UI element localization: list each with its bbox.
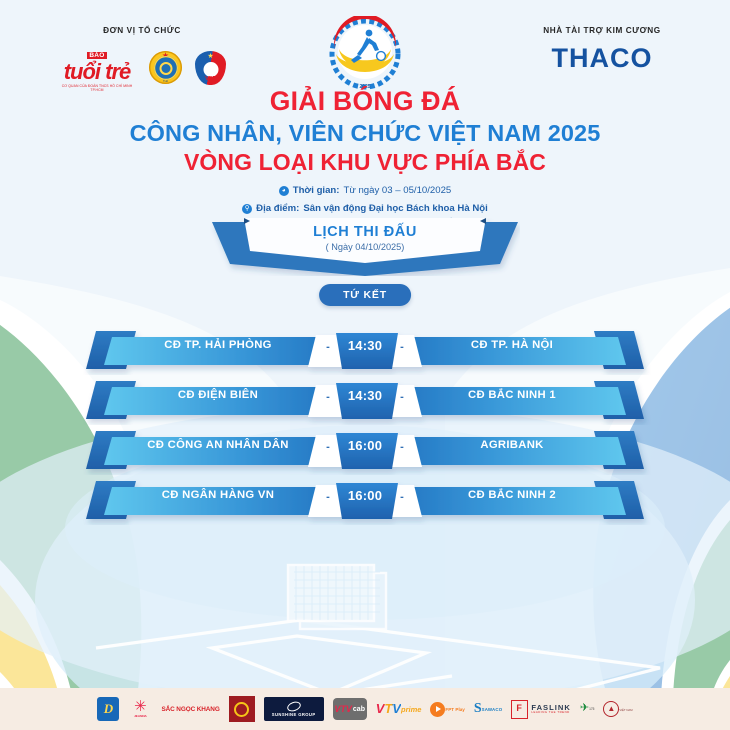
- match-list: CĐ TP. HẢI PHÒNG - 14:30 - CĐ TP. HÀ NỘI…: [0, 325, 730, 525]
- faslink-mark: [511, 700, 528, 719]
- cssv-label: VIỆT NAM: [619, 708, 632, 712]
- sponsor-fptplay: FPT Play: [430, 696, 464, 723]
- title-line-3: VÒNG LOẠI KHU VỰC PHÍA BẮC: [0, 148, 730, 178]
- vtv-mark: VTV: [334, 704, 352, 714]
- sponsor-caption: NHÀ TÀI TRỢ KIM CƯƠNG: [512, 26, 692, 35]
- soccer-ball-icon: [203, 62, 218, 77]
- fptplay-label: FPT Play: [445, 707, 464, 712]
- sponsor-vtvcab: VTV cab: [333, 696, 367, 723]
- match-row[interactable]: CĐ ĐIỆN BIÊN - 14:30 - CĐ BẮC NINH 1: [0, 375, 730, 425]
- jeanna-label: JEANNA: [134, 714, 147, 718]
- tournament-emblem-icon: ★ ★ ★ 2025: [321, 16, 409, 94]
- organizer-caption: ĐƠN VỊ TỔ CHỨC: [42, 26, 242, 35]
- sponsor-jeanna: ✳ JEANNA: [128, 696, 152, 723]
- sponsor-faslink: FASLINK LEADING THE TREND: [511, 696, 571, 723]
- schedule-banner: LỊCH THI ĐẤU ( Ngày 04/10/2025): [210, 218, 520, 276]
- star-icon: ★: [207, 53, 213, 60]
- away-team-name: CĐ TP. HÀ NỘI: [412, 339, 612, 351]
- match-row[interactable]: CĐ TP. HẢI PHÒNG - 14:30 - CĐ TP. HÀ NỘI: [0, 325, 730, 375]
- seal-label: TLĐ: [149, 80, 182, 83]
- away-team-name: CĐ BẮC NINH 1: [412, 389, 612, 401]
- congdoan-logo: ★ TLĐ: [149, 51, 182, 84]
- vff-logo: ★ VFF: [195, 51, 226, 85]
- tuoitre-logo: BÁO tuổi trẻ CƠ QUAN CỦA ĐOÀN TNCS HỒ CH…: [58, 44, 136, 92]
- flower-icon: ✳: [134, 700, 147, 714]
- vtvcab-logo: VTV cab: [333, 698, 367, 720]
- home-team-name: CĐ TP. HẢI PHÒNG: [118, 339, 318, 351]
- sponsor-dongluc: D: [97, 696, 119, 723]
- banner-title: LỊCH THI ĐẤU: [210, 224, 520, 240]
- sponsor-vietnam175: ✈ 175: [580, 696, 595, 723]
- match-row[interactable]: CĐ NGÂN HÀNG VN - 16:00 - CĐ BẮC NINH 2: [0, 475, 730, 525]
- sponsor-cssv: ▲ VIỆT NAM: [603, 696, 632, 723]
- tuoitre-badge: BÁO: [87, 52, 106, 59]
- location-pin-icon: ⚲: [242, 204, 252, 214]
- away-team-name: AGRIBANK: [412, 439, 612, 451]
- sunshinegroup-label: SUNSHINE GROUP: [272, 712, 316, 717]
- vtvcab-label: cab: [353, 706, 365, 713]
- sponsor-sawaco: S SAWACO: [474, 696, 503, 723]
- sponsor-footer: D ✳ JEANNA SẮC NGỌC KHANG SUNSHINE GROUP…: [0, 688, 730, 730]
- sunshinegroup-logo: SUNSHINE GROUP: [264, 697, 324, 721]
- venue-value: Sân vận động Đại học Bách khoa Hà Nội: [303, 202, 487, 217]
- shield-icon: ▲: [603, 701, 619, 717]
- vtv-mark: VTV: [376, 703, 401, 714]
- vff-label: VFF: [195, 76, 226, 82]
- svg-text:★: ★: [372, 61, 379, 70]
- organizer-logos: BÁO tuổi trẻ CƠ QUAN CỦA ĐOÀN TNCS HỒ CH…: [42, 44, 242, 92]
- star-leaf-icon: ✈: [580, 704, 589, 714]
- thaco-logo: THACO: [512, 45, 692, 72]
- title-line-1: GIẢI BÓNG ĐÁ: [0, 86, 730, 118]
- sponsor-sacngockhang: SẮC NGỌC KHANG: [161, 696, 219, 723]
- dongluc-logo: D: [97, 697, 119, 721]
- vietnam175-label: 175: [589, 707, 594, 711]
- sawaco-label: SAWACO: [482, 707, 503, 712]
- sponsor-block: NHÀ TÀI TRỢ KIM CƯƠNG THACO: [512, 26, 692, 72]
- venue-info-row: ⚲ Địa điểm: Sân vận động Đại học Bách kh…: [0, 202, 730, 217]
- svg-text:★: ★: [361, 64, 369, 74]
- venue-label: Địa điểm:: [256, 202, 299, 217]
- sponsor-bachhoaxanh: [229, 696, 255, 723]
- title-block: GIẢI BÓNG ĐÁ CÔNG NHÂN, VIÊN CHỨC VIỆT N…: [0, 86, 730, 227]
- time-label: Thời gian:: [293, 184, 340, 199]
- match-row[interactable]: CĐ CÔNG AN NHÂN DÂN - 16:00 - AGRIBANK: [0, 425, 730, 475]
- svg-text:★: ★: [351, 61, 358, 70]
- title-line-2: CÔNG NHÂN, VIÊN CHỨC VIỆT NAM 2025: [0, 118, 730, 148]
- poster-header: ĐƠN VỊ TỔ CHỨC BÁO tuổi trẻ CƠ QUAN CỦA …: [0, 0, 730, 95]
- clock-icon: ◕: [279, 186, 289, 196]
- home-team-name: CĐ NGÂN HÀNG VN: [118, 489, 318, 501]
- sawaco-mark: S: [474, 703, 482, 715]
- play-icon: [430, 702, 445, 717]
- poster-canvas: ĐƠN VỊ TỔ CHỨC BÁO tuổi trẻ CƠ QUAN CỦA …: [0, 0, 730, 730]
- tuoitre-wordmark: tuổi trẻ: [58, 62, 136, 83]
- time-info-row: ◕ Thời gian: Từ ngày 03 – 05/10/2025: [0, 184, 730, 199]
- ring-icon: [234, 702, 249, 717]
- round-pill: TỨ KẾT: [319, 284, 411, 306]
- home-team-name: CĐ CÔNG AN NHÂN DÂN: [118, 439, 318, 451]
- banner-date: ( Ngày 04/10/2025): [210, 242, 520, 252]
- organizer-block: ĐƠN VỊ TỔ CHỨC BÁO tuổi trẻ CƠ QUAN CỦA …: [42, 26, 242, 92]
- time-value: Từ ngày 03 – 05/10/2025: [344, 184, 452, 199]
- sponsor-vtvprime: VTV prime: [376, 696, 422, 723]
- banner-text: LỊCH THI ĐẤU ( Ngày 04/10/2025): [210, 224, 520, 252]
- home-team-name: CĐ ĐIỆN BIÊN: [118, 389, 318, 401]
- sponsor-sunshinegroup: SUNSHINE GROUP: [264, 696, 324, 723]
- gear-icon: [159, 62, 172, 75]
- faslink-tagline: LEADING THE TREND: [531, 711, 571, 714]
- away-team-name: CĐ BẮC NINH 2: [412, 489, 612, 501]
- bachhoaxanh-logo: [229, 696, 255, 722]
- vtvprime-label: prime: [401, 705, 421, 714]
